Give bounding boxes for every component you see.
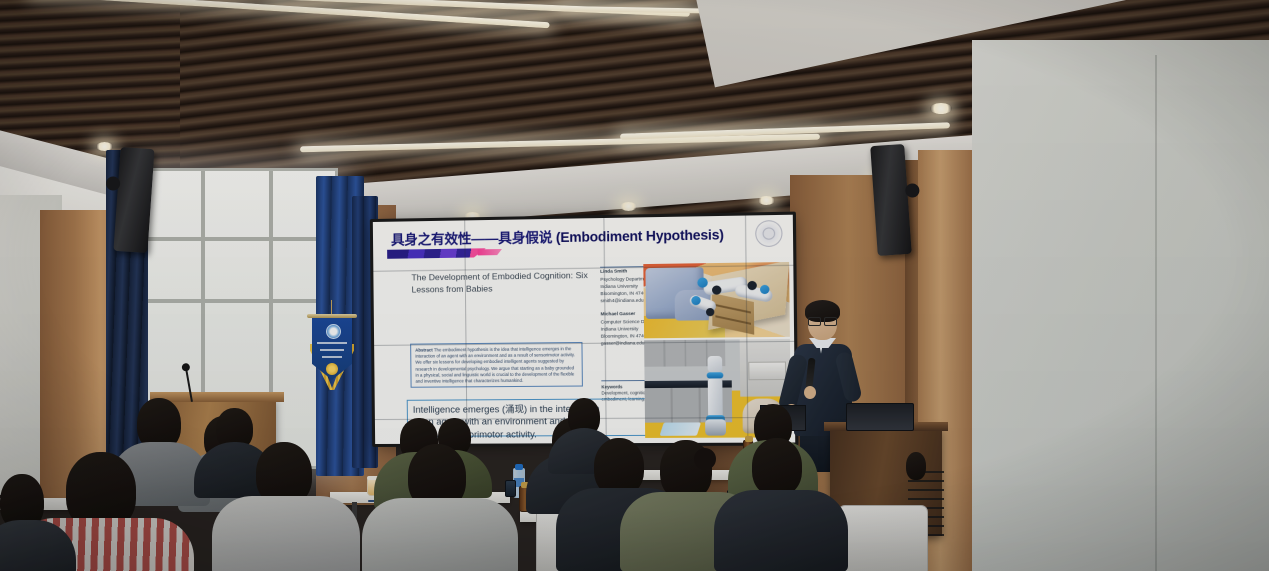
author-email: smith4@indiana.edu (600, 297, 643, 303)
slide-image-sim-living-room (643, 262, 790, 338)
robot-joint-dark (706, 308, 714, 316)
sim-appliance (748, 361, 786, 380)
pennant-text-line (317, 342, 347, 344)
person-torso (362, 498, 518, 571)
person-torso (212, 496, 360, 571)
person-head (906, 452, 926, 480)
robot-joint (760, 285, 770, 294)
pennant-body (312, 318, 352, 380)
robot-joint (691, 296, 700, 305)
slide-title-cn: 具身之有效性——具身假说 (391, 230, 552, 248)
pennant-text-line (322, 356, 342, 358)
author-affil-line: Bloomington, IN 47405 (601, 333, 649, 339)
pennant-cord (331, 300, 332, 314)
robot-joint-dark (747, 281, 757, 290)
window-mullion (139, 299, 335, 303)
pennant-emblem-icon (326, 324, 341, 339)
pennant-seal-icon (326, 363, 338, 375)
sim-rug (659, 422, 701, 435)
slide-decorative-arrow (478, 249, 502, 255)
university-seal-icon (755, 220, 783, 247)
person-head (752, 438, 802, 496)
robot-head (708, 356, 723, 372)
slide-title: 具身之有效性——具身假说 (Embodiment Hypothesis) (391, 222, 770, 248)
abstract-text: The embodiment hypothesis is the idea th… (415, 346, 575, 384)
speaker-mount (106, 176, 121, 191)
pennant-text-line (320, 349, 344, 351)
window-mullion (139, 237, 335, 241)
recessed-downlight (758, 196, 775, 205)
sim-mobile-robot (704, 356, 726, 438)
bottle-cap (745, 436, 753, 442)
wall-panel-seam (1155, 55, 1157, 571)
presenter-laptop[interactable] (846, 403, 914, 431)
author-affil-line: Indiana University (600, 283, 638, 289)
recessed-downlight (930, 103, 952, 114)
robot-joint-dark (712, 285, 721, 294)
wall-speaker-left (113, 147, 154, 253)
slide-decorative-band (387, 248, 486, 259)
author-email: gasser@indiana.edu (601, 340, 645, 345)
robot-body (708, 378, 723, 419)
lecture-hall-photo: 具身之有效性——具身假说 (Embodiment Hypothesis) The… (0, 0, 1269, 571)
presenter-hand-right (804, 386, 816, 399)
eyeglasses-icon (808, 317, 837, 324)
pennant-rod (307, 314, 357, 318)
slide-title-en: (Embodiment Hypothesis) (556, 227, 724, 245)
person-hair-bun (694, 448, 716, 470)
author-affil-line: Bloomington, IN 47405 (600, 290, 648, 296)
smartphone[interactable] (505, 480, 516, 497)
person-torso (714, 490, 848, 571)
robot-joint (697, 277, 708, 287)
chair (838, 505, 928, 571)
bottle-cap (515, 464, 523, 470)
callout-line-1: Intelligence emerges (涌现) in the interac… (413, 402, 640, 416)
robot-base (705, 419, 726, 435)
abstract-label: Abstract (415, 347, 433, 352)
paper-title: The Development of Embodied Cognition: S… (411, 269, 589, 296)
author-affil-line: Indiana University (601, 326, 639, 331)
blue-award-pennant (310, 308, 354, 396)
abstract-box: Abstract The embodiment hypothesis is th… (410, 342, 583, 388)
wall-panel-right (972, 40, 1269, 571)
recessed-downlight (620, 202, 637, 211)
